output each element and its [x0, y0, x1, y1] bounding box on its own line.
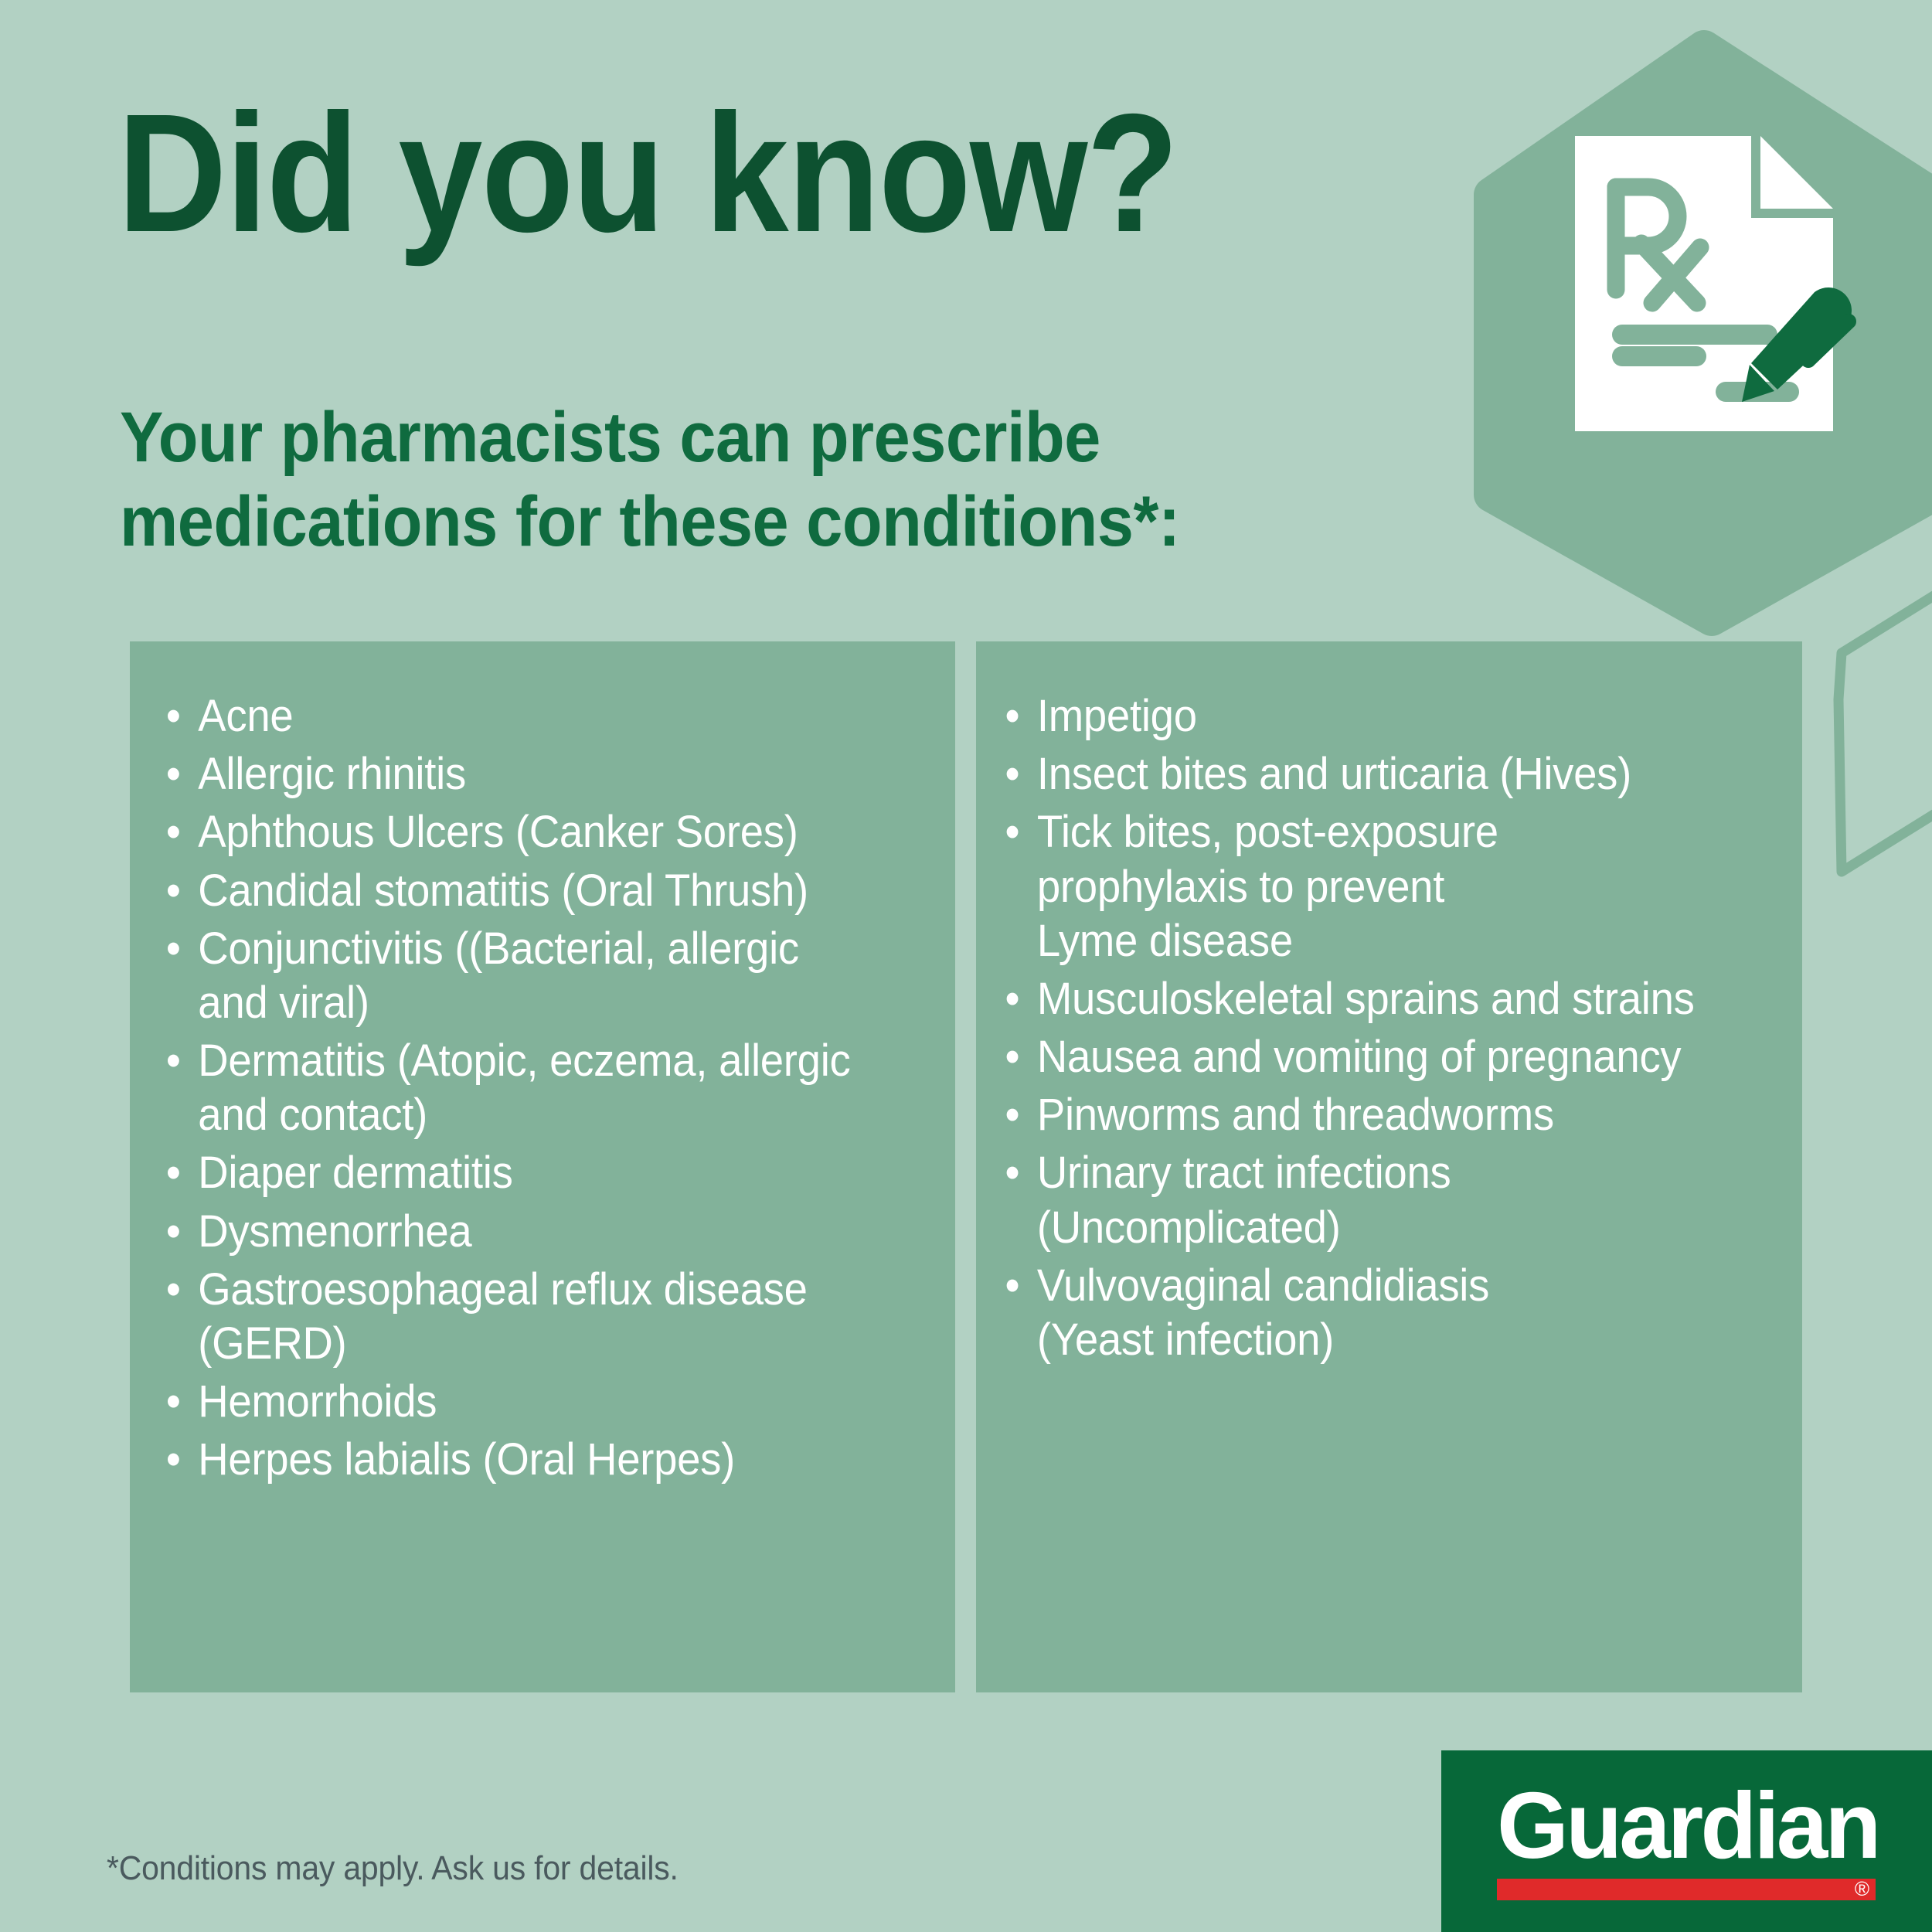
condition-label: Urinary tract infections (Uncomplicated) — [1037, 1146, 1733, 1254]
bullet-icon: • — [1005, 972, 1020, 1026]
list-item: • Herpes labialis (Oral Herpes) — [153, 1433, 886, 1487]
bullet-icon: • — [166, 922, 181, 976]
guardian-red-rule: ® — [1497, 1879, 1876, 1900]
conditions-card-right: • Impetigo • Insect bites and urticaria … — [976, 641, 1802, 1692]
hexagon-outline-shape — [1838, 568, 1932, 872]
conditions-card-left: • Acne • Allergic rhinitis • Aphthous Ul… — [130, 641, 955, 1692]
condition-label: Musculoskeletal sprains and strains — [1037, 972, 1733, 1026]
condition-label: Conjunctivitis ((Bacterial, allergic and… — [198, 922, 885, 1030]
page-subtitle: Your pharmacists can prescribe medicatio… — [120, 396, 1186, 563]
list-item: • Nausea and vomiting of pregnancy — [999, 1030, 1732, 1084]
bullet-icon: • — [166, 1433, 181, 1487]
list-item: • Insect bites and urticaria (Hives) — [999, 747, 1732, 801]
bullet-icon: • — [166, 1034, 181, 1088]
condition-label: Impetigo — [1037, 689, 1733, 743]
registered-trademark-icon: ® — [1855, 1878, 1869, 1900]
bullet-icon: • — [166, 1263, 181, 1317]
bullet-icon: • — [1005, 1146, 1020, 1200]
condition-label: Gastroesophageal reflux disease (GERD) — [198, 1263, 885, 1371]
list-item: • Impetigo — [999, 689, 1732, 743]
list-item: • Allergic rhinitis — [153, 747, 886, 801]
list-item: • Acne — [153, 689, 886, 743]
condition-label: Nausea and vomiting of pregnancy — [1037, 1030, 1733, 1084]
footnote-disclaimer: *Conditions may apply. Ask us for detail… — [107, 1849, 679, 1889]
list-item: • Aphthous Ulcers (Canker Sores) — [153, 805, 886, 859]
guardian-logo: Guardian ® — [1441, 1750, 1932, 1932]
condition-label: Dysmenorrhea — [198, 1205, 885, 1259]
list-item: • Diaper dermatitis — [153, 1146, 886, 1200]
bullet-icon: • — [1005, 1088, 1020, 1142]
condition-label: Diaper dermatitis — [198, 1146, 885, 1200]
list-item: • Tick bites, post-exposure prophylaxis … — [999, 805, 1732, 968]
page-subtitle-line: Your pharmacists can prescribe — [120, 396, 1186, 480]
list-item: • Dysmenorrhea — [153, 1205, 886, 1259]
list-item: • Urinary tract infections (Uncomplicate… — [999, 1146, 1732, 1254]
condition-label: Pinworms and threadworms — [1037, 1088, 1733, 1142]
list-item: • Dermatitis (Atopic, eczema, allergic a… — [153, 1034, 886, 1142]
condition-label: Tick bites, post-exposure prophylaxis to… — [1037, 805, 1733, 968]
document-folded-corner-shape — [1760, 136, 1833, 209]
guardian-wordmark: Guardian — [1497, 1778, 1868, 1872]
bullet-icon: • — [166, 864, 181, 918]
list-item: • Gastroesophageal reflux disease (GERD) — [153, 1263, 886, 1371]
document-text-line-2 — [1612, 346, 1706, 366]
condition-label: Acne — [198, 689, 885, 743]
bullet-icon: • — [166, 747, 181, 801]
condition-label: Dermatitis (Atopic, eczema, allergic and… — [198, 1034, 885, 1142]
bullet-icon: • — [1005, 689, 1020, 743]
document-text-line-1 — [1612, 325, 1777, 345]
bullet-icon: • — [1005, 805, 1020, 859]
bullet-icon: • — [166, 1205, 181, 1259]
list-item: • Conjunctivitis ((Bacterial, allergic a… — [153, 922, 886, 1030]
condition-label: Hemorrhoids — [198, 1375, 885, 1429]
bullet-icon: • — [1005, 1030, 1020, 1084]
conditions-list-right: • Impetigo • Insect bites and urticaria … — [999, 689, 1779, 1367]
list-item: • Candidal stomatitis (Oral Thrush) — [153, 864, 886, 918]
page-subtitle-line: medications for these conditions*: — [120, 480, 1186, 564]
bullet-icon: • — [166, 1146, 181, 1200]
condition-label: Insect bites and urticaria (Hives) — [1037, 747, 1733, 801]
condition-label: Herpes labialis (Oral Herpes) — [198, 1433, 885, 1487]
bullet-icon: • — [1005, 747, 1020, 801]
page-title: Did you know? — [117, 91, 1091, 257]
list-item: • Musculoskeletal sprains and strains — [999, 972, 1732, 1026]
condition-label: Allergic rhinitis — [198, 747, 885, 801]
bullet-icon: • — [166, 689, 181, 743]
bullet-icon: • — [166, 1375, 181, 1429]
prescription-rx-document-icon — [1567, 131, 1861, 440]
list-item: • Hemorrhoids — [153, 1375, 886, 1429]
list-item: • Vulvovaginal candidiasis (Yeast infect… — [999, 1259, 1732, 1367]
list-item: • Pinworms and threadworms — [999, 1088, 1732, 1142]
conditions-list-left: • Acne • Allergic rhinitis • Aphthous Ul… — [153, 689, 932, 1487]
bullet-icon: • — [1005, 1259, 1020, 1313]
condition-label: Vulvovaginal candidiasis (Yeast infectio… — [1037, 1259, 1733, 1367]
condition-label: Aphthous Ulcers (Canker Sores) — [198, 805, 885, 859]
condition-label: Candidal stomatitis (Oral Thrush) — [198, 864, 885, 918]
bullet-icon: • — [166, 805, 181, 859]
